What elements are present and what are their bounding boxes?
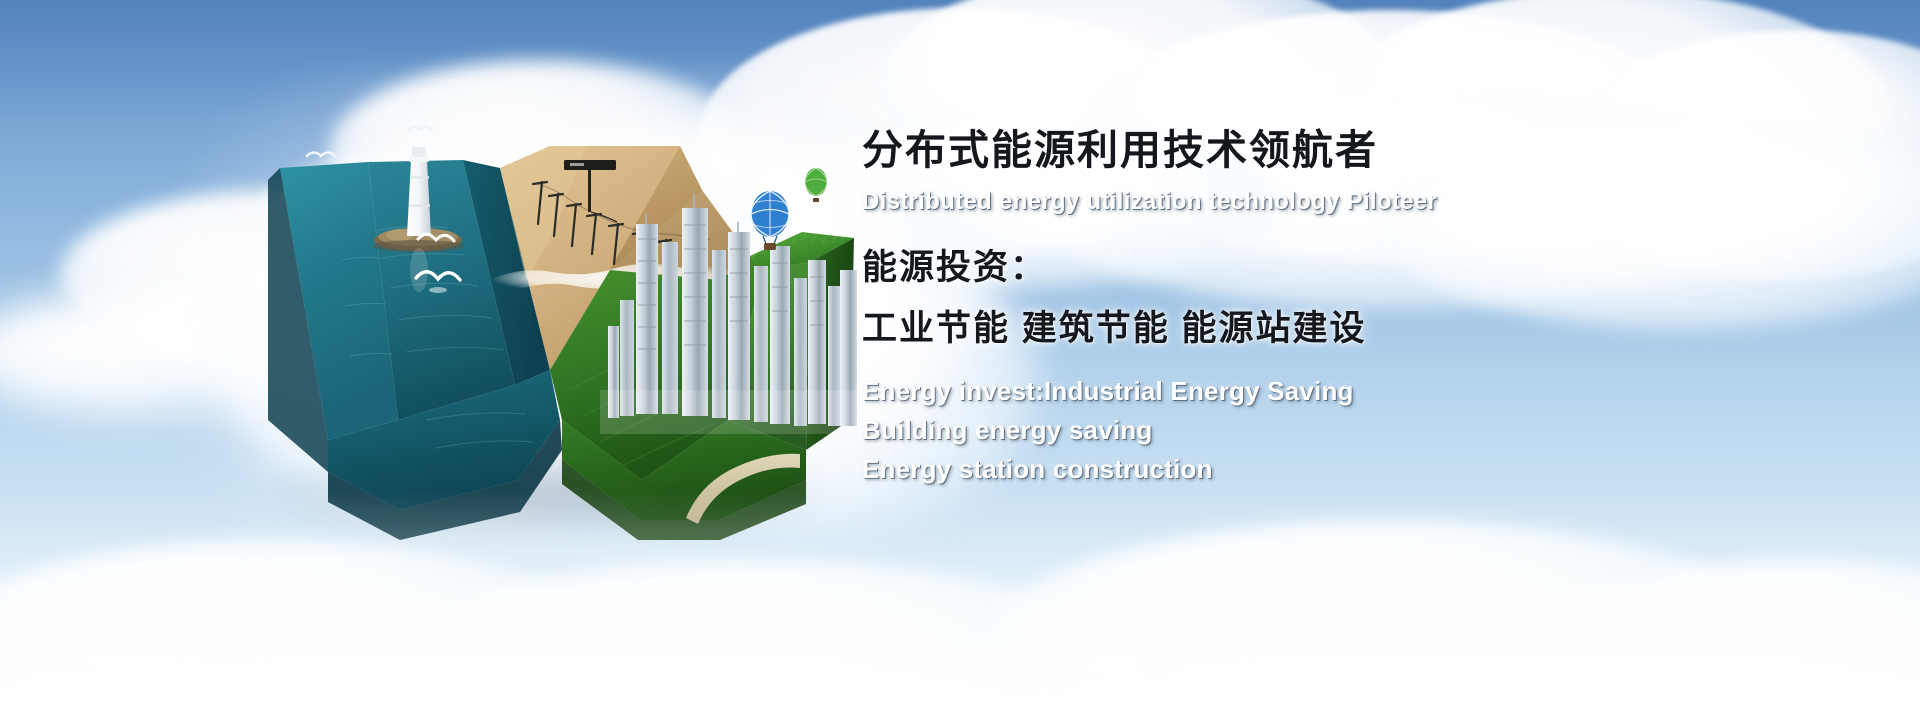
subtitle-english: Distributed energy utilization technolog…: [862, 188, 1862, 216]
seagull: [408, 127, 432, 130]
service-line-english: Building energy saving: [862, 411, 1862, 450]
service-list-english: Energy invest:Industrial Energy Saving B…: [862, 372, 1862, 489]
letter-w-landscape-sculpture: [250, 120, 870, 540]
service-line-english: Energy station construction: [862, 450, 1862, 489]
hero-banner: 分布式能源利用技术领航者 Distributed energy utilizat…: [0, 0, 1920, 720]
service-list-chinese: 工业节能 建筑节能 能源站建设: [862, 307, 1862, 352]
seagull: [307, 153, 335, 157]
lighthouse: [407, 133, 431, 292]
seagull-reflection: [429, 287, 447, 293]
banner-copy: 分布式能源利用技术领航者 Distributed energy utilizat…: [862, 128, 1862, 489]
letter-w-svg: [250, 120, 870, 540]
headline-chinese: 分布式能源利用技术领航者: [862, 128, 1862, 174]
skyscraper-city: [600, 194, 870, 434]
green-balloon: [805, 168, 827, 202]
service-line-english: Energy invest:Industrial Energy Saving: [862, 372, 1862, 411]
energy-invest-label: 能源投资：: [862, 246, 1862, 291]
